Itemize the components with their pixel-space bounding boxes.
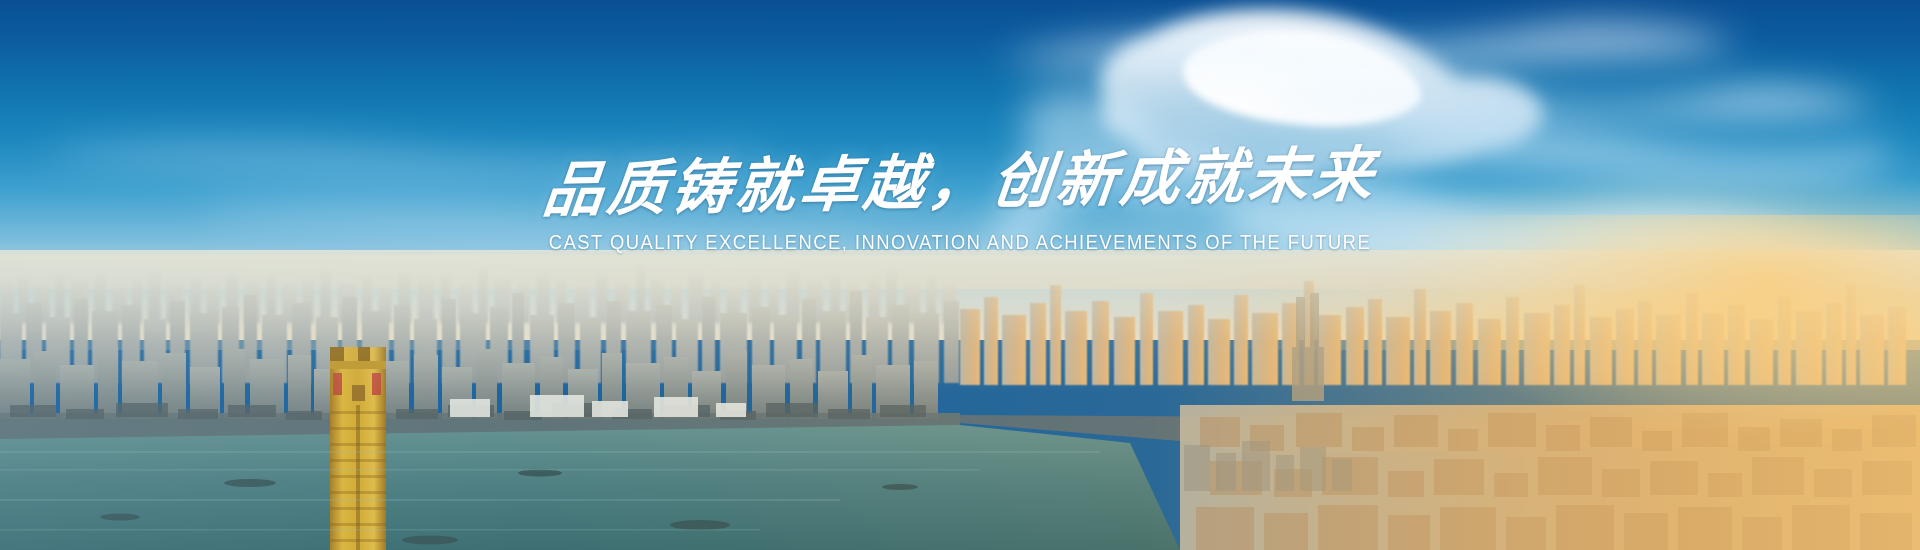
skyline-right-warm: [960, 281, 1906, 385]
golden-tower: [330, 347, 386, 550]
banner-copy: 品质铸就卓越，创新成就未来 CAST QUALITY EXCELLENCE, I…: [0, 150, 1920, 255]
hero-banner: 品质铸就卓越，创新成就未来 CAST QUALITY EXCELLENCE, I…: [0, 0, 1920, 550]
huangpu-river: [0, 425, 1180, 550]
banner-subheadline-english: CAST QUALITY EXCELLENCE, INNOVATION AND …: [77, 231, 1843, 255]
cityscape: [0, 255, 1920, 550]
